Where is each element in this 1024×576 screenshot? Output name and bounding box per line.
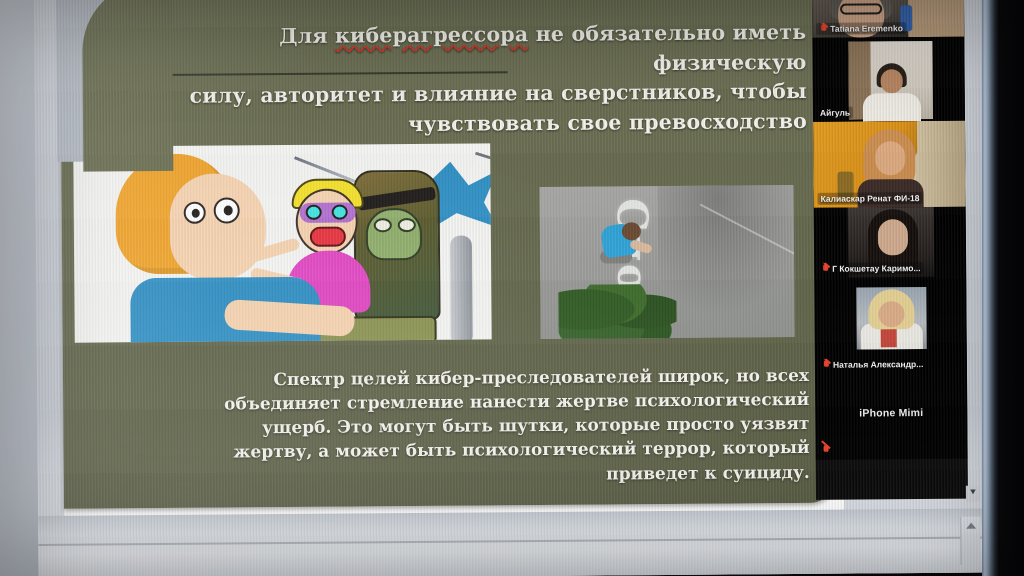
participant-name-text: Г Кокшетау Каримо... xyxy=(832,263,920,274)
participant-tile[interactable]: Айгуль xyxy=(812,37,965,122)
cartoon-witch-mouth xyxy=(310,227,346,247)
microphone-muted-icon xyxy=(819,24,827,34)
cartoon-soldier-face xyxy=(366,208,422,260)
presentation-slide[interactable]: Для киберагрессора не обязательно иметь … xyxy=(60,0,836,509)
participant-tile[interactable]: Tatiana Eremenko xyxy=(812,0,964,38)
slide-title-line1: не обязательно иметь физическую xyxy=(528,20,806,75)
photo-bush xyxy=(558,284,676,339)
monitor-bezel xyxy=(982,0,998,576)
participant-name-text: iPhone Mimi xyxy=(815,407,967,420)
monitor-photo-scene: Для киберагрессора не обязательно иметь … xyxy=(0,0,1024,576)
participant-tile[interactable]: Калиаскар Ренат ФИ-18 xyxy=(813,121,966,208)
cartoon-boy-pupil-near xyxy=(224,205,233,215)
participant-tile-audio-only[interactable]: iPhone Mimi xyxy=(815,373,968,460)
participant-name-text: Tatiana Eremenko xyxy=(830,23,903,34)
cartoon-boy-pupil-far xyxy=(192,209,200,218)
participant-tile[interactable]: Г Кокшетау Каримо... xyxy=(814,207,967,278)
participant-name-label: Tatiana Eremenko xyxy=(816,22,906,35)
participant-name-text: Калиаскар Ренат ФИ-18 xyxy=(821,193,920,204)
slide-title: Для киберагрессора не обязательно иметь … xyxy=(126,18,807,142)
slide-body-text: Спектр целей кибер-преследователей широк… xyxy=(121,364,810,490)
participant-tile[interactable]: Наталья Александр... xyxy=(814,277,967,374)
microphone-muted-icon xyxy=(822,445,830,455)
slide-rounded-corner xyxy=(56,0,135,162)
monitor-screen: Для киберагрессора не обязательно иметь … xyxy=(34,0,991,576)
cartoon-soldier-eye-right xyxy=(398,218,416,232)
participant-name-label: Айгуль xyxy=(817,107,853,119)
cartoon-witch-eye-left xyxy=(306,205,322,220)
slide-image-chalk-photo: Сдохни xyxy=(540,185,795,339)
cartoon-witch-eye-right xyxy=(332,205,348,220)
window-scrollbar[interactable] xyxy=(960,517,980,565)
participant-name-text: Айгуль xyxy=(820,108,850,118)
screen-share-stage: Для киберагрессора не обязательно иметь … xyxy=(60,0,844,520)
microphone-muted-icon xyxy=(821,264,829,274)
filmstrip-scroll-down-button[interactable]: ⯆ xyxy=(966,486,980,502)
participant-filmstrip[interactable]: Tatiana Eremenko Айгуль xyxy=(812,0,968,500)
photo-shadow xyxy=(658,185,795,316)
cartoon-soldier-eye-left xyxy=(374,218,392,232)
scroll-up-arrow-icon[interactable] xyxy=(966,523,976,529)
participant-name-text: Наталья Александр... xyxy=(833,359,923,370)
cartoon-boy-face xyxy=(169,173,266,280)
participant-name-label: Наталья Александр... xyxy=(819,358,926,371)
participant-name-label: Калиаскар Ренат ФИ-18 xyxy=(818,192,923,205)
cartoon-monitor-edge xyxy=(450,236,473,343)
photo-child-head xyxy=(622,222,641,240)
spellcheck-error-word: киберагрессора xyxy=(335,22,529,48)
microphone-muted-icon xyxy=(822,360,830,370)
slide-image-cartoon xyxy=(73,143,492,342)
slide-body-line-5: приведет к суициду. xyxy=(122,460,810,490)
slide-title-pre: Для xyxy=(279,24,335,48)
participant-name-label: Г Кокшетау Каримо... xyxy=(818,262,923,275)
slide-title-line3: чувствовать свое превосходство xyxy=(127,107,807,142)
